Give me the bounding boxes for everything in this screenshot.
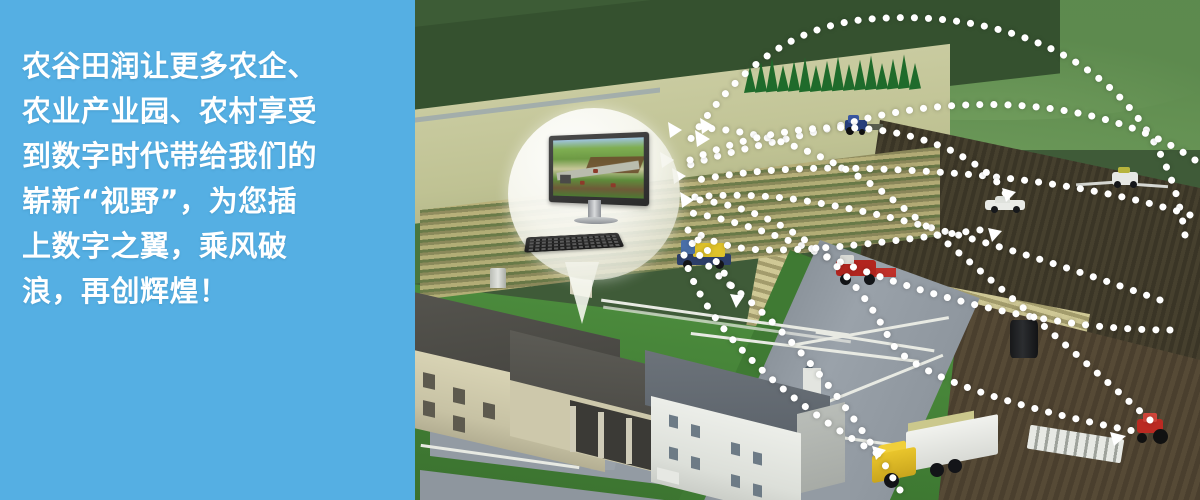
- computer-monitor: [544, 134, 648, 212]
- arrowhead-pickup: [1002, 188, 1016, 202]
- arrowhead-6: [680, 192, 694, 208]
- slogan-panel: 农谷田润让更多农企、 农业产业园、农村享受 到数字时代带给我们的 崭新“视野”，…: [0, 0, 415, 500]
- screen-building: [560, 175, 571, 184]
- signal-path-3: [688, 168, 1190, 215]
- arrowhead-upper: [988, 228, 1002, 242]
- monitor-bezel: [549, 132, 649, 206]
- signal-out-semi: [684, 255, 880, 455]
- signal-path-5: [684, 212, 1170, 330]
- arrowhead-semi: [872, 446, 886, 460]
- monitor-screen: [553, 137, 644, 198]
- screen-vehicle-dot: [611, 183, 616, 187]
- screen-vehicle-dot: [593, 169, 598, 173]
- signal-path-7: [692, 243, 900, 490]
- signal-out-pickup: [690, 128, 1008, 200]
- screen-vehicle-dot: [580, 181, 585, 185]
- farm-computer-bubble: [508, 108, 680, 280]
- arrowhead-tractor: [1110, 432, 1126, 446]
- signal-path-1: [690, 18, 1185, 235]
- arrowhead-combine: [730, 294, 744, 308]
- slogan-text: 农谷田润让更多农企、 农业产业园、农村享受 到数字时代带给我们的 崭新“视野”，…: [22, 44, 400, 314]
- arrowhead-3: [668, 122, 682, 138]
- keyboard: [524, 233, 624, 253]
- hero-banner: 农谷田润让更多农企、 农业产业园、农村享受 到数字时代带给我们的 崭新“视野”，…: [0, 0, 1200, 500]
- monitor-base: [574, 217, 618, 224]
- signal-out-tractor: [700, 200, 1140, 432]
- signal-path-6: [690, 228, 980, 250]
